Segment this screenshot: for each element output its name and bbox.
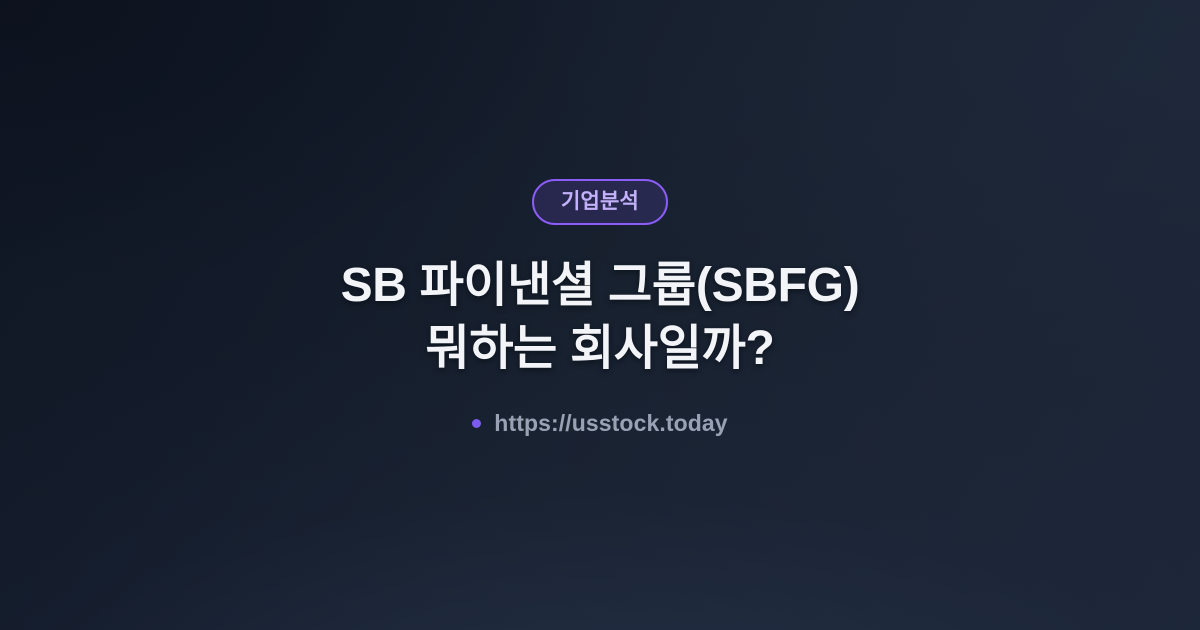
site-url-text: https://usstock.today xyxy=(494,412,727,435)
card-content: 기업분석 SB 파이낸셜 그룹(SBFG) 뭐하는 회사일까? https://… xyxy=(0,179,1200,436)
page-title-line-1: SB 파이낸셜 그룹(SBFG) xyxy=(341,255,860,318)
page-title-line-2: 뭐하는 회사일까? xyxy=(341,318,860,381)
site-url: https://usstock.today xyxy=(472,412,727,435)
category-badge: 기업분석 xyxy=(532,179,668,225)
og-share-card: 기업분석 SB 파이낸셜 그룹(SBFG) 뭐하는 회사일까? https://… xyxy=(0,0,1200,630)
page-title: SB 파이낸셜 그룹(SBFG) 뭐하는 회사일까? xyxy=(341,255,860,381)
bullet-dot-icon xyxy=(472,419,481,428)
